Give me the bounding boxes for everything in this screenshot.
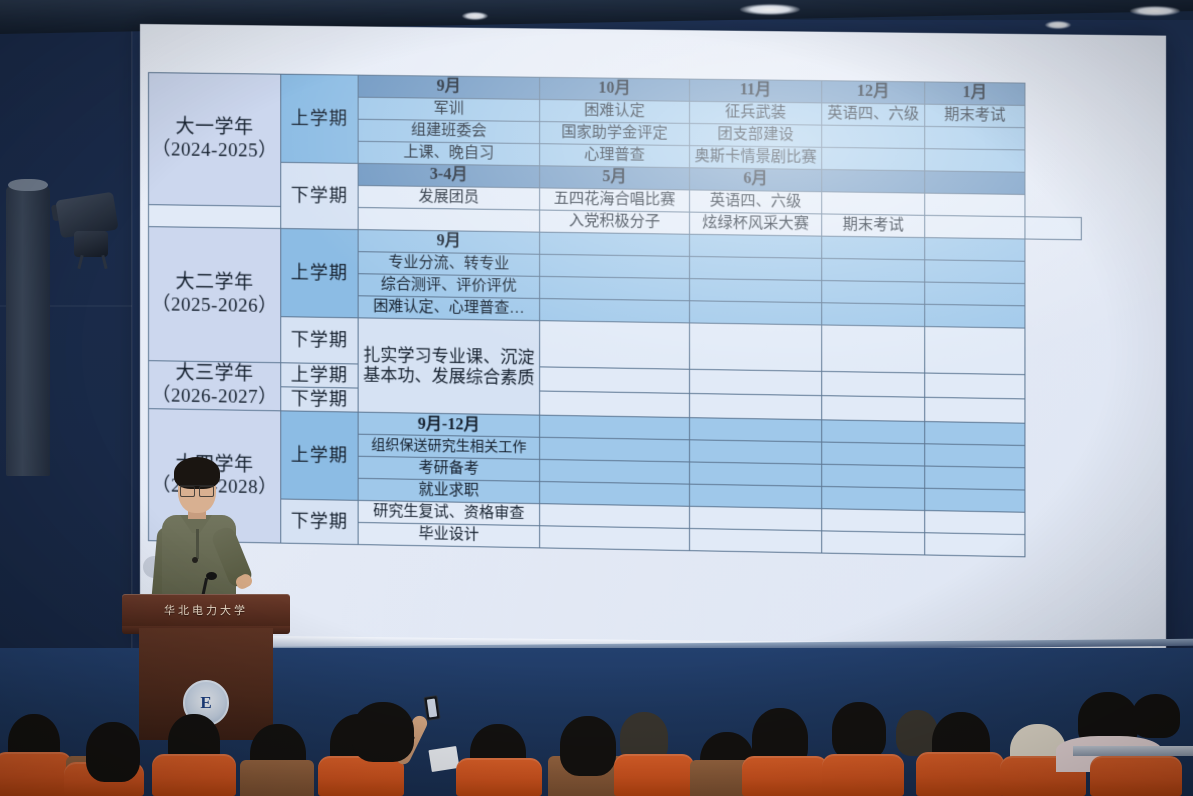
activity-cell: 上课、晚自习 [358,141,539,165]
month-header: 1月 [925,82,1025,105]
audience-head [1132,694,1180,738]
empty-cell [925,511,1025,535]
activity-cell: 炫绿杯风采大赛 [690,212,822,236]
auditorium-seat-back [240,760,314,796]
four-year-plan-table: 大一学年 （2024-2025） 上学期 9月 10月 11月 12月 1月 军… [148,72,1082,559]
empty-cell [925,533,1025,557]
audience-head [86,722,140,782]
empty-month-header [925,171,1025,195]
auditorium-seat [456,758,542,796]
audience-head [832,702,886,760]
empty-cell [822,443,925,467]
phone-screen [427,699,437,718]
empty-cell [690,279,822,303]
auditorium-photo: 大一学年 （2024-2025） 上学期 9月 10月 11月 12月 1月 军… [0,0,1193,796]
term-label-cell: 下学期 [281,499,358,545]
empty-cell [925,444,1025,468]
activity-cell: 五四花海合唱比赛 [540,188,690,212]
empty-cell [1025,217,1081,240]
empty-cell [540,299,690,323]
empty-cell [540,460,690,485]
camera-mount [74,231,108,257]
empty-cell [822,509,925,533]
activity-cell: 组织保送研究生相关工作 [358,435,539,460]
auditorium-seat [0,752,72,796]
ceiling-downlight [462,12,488,20]
empty-cell [822,420,925,444]
empty-cell [925,398,1025,424]
term-label-cell: 下学期 [281,317,358,364]
empty-cell [148,205,280,229]
empty-cell [925,489,1025,513]
empty-cell [540,321,690,370]
year-label-cell: 大三学年 （2026-2027） [148,361,280,412]
activity-cell: 征兵武装 [690,101,822,125]
empty-cell [822,258,925,282]
empty-cell [690,323,822,371]
empty-cell [540,254,690,278]
term-label-cell: 上学期 [281,363,358,389]
presenter-placket [196,529,199,559]
empty-cell [925,238,1025,262]
empty-cell [690,462,822,486]
activity-cell: 团支部建设 [690,123,822,147]
empty-cell [822,465,925,489]
activity-cell: 入党积极分子 [540,210,690,234]
empty-cell [822,531,925,555]
empty-cell [822,487,925,511]
empty-cell [690,256,822,280]
handout-paper [428,746,459,772]
empty-cell [925,422,1025,446]
podium-top: 华北电力大学 [122,594,290,628]
aisle-rail [1073,746,1193,756]
empty-cell [690,394,822,421]
empty-cell [690,440,822,464]
empty-cell [925,373,1025,399]
month-header: 10月 [540,77,690,101]
auditorium-seat [152,754,236,796]
wall-seam-vertical [131,20,133,650]
empty-cell [540,276,690,300]
auditorium-seat [614,754,694,796]
year-range: （2026-2027） [151,385,278,410]
empty-cell [540,504,690,529]
activity-cell: 心理普查 [540,144,690,168]
year-range: （2025-2026） [151,294,278,318]
activity-cell: 英语四、六级 [690,190,822,214]
empty-cell [540,367,690,394]
ceiling-downlight [1130,6,1180,16]
empty-cell [925,466,1025,490]
activity-cell: 期末考试 [925,104,1025,128]
year-range: （2024-2025） [151,139,278,163]
audience-head [352,702,414,762]
month-header: 11月 [690,79,822,103]
empty-cell [822,192,925,216]
activity-cell: 毕业设计 [358,523,539,548]
slide-content: 大一学年 （2024-2025） 上学期 9月 10月 11月 12月 1月 军… [148,72,1082,559]
activity-cell: 困难认定、心理普查… [358,296,539,321]
empty-cell [822,325,925,373]
podium-microphone-head [206,572,217,580]
activity-cell: 就业求职 [358,479,539,504]
glasses-icon [180,485,214,494]
multi-year-note-line1: 扎实学习专业课、沉淀 [361,345,537,368]
year-label: 大二学年 [151,271,278,295]
activity-cell: 研究生复试、资格审查 [358,501,539,526]
activity-cell: 专业分流、转专业 [358,252,539,277]
empty-cell [358,208,539,233]
activity-cell: 发展团员 [358,185,539,210]
audience-head [560,716,616,776]
podium-university-name: 华北电力大学 [122,602,290,618]
empty-cell [690,529,822,554]
month-header: 5月 [540,166,690,190]
empty-cell [540,232,690,256]
empty-cell [690,369,822,396]
month-header: 9月 [358,75,539,99]
month-header: 6月 [690,168,822,192]
empty-month-header [822,170,925,194]
auditorium-seat [916,752,1004,796]
year-label: 大三学年 [151,363,278,387]
activity-cell: 奥斯卡情景剧比赛 [690,146,822,170]
auditorium-seat [318,756,404,796]
term-label-cell: 下学期 [281,387,358,413]
empty-cell [540,391,690,418]
empty-cell [690,485,822,510]
line-array-speaker [6,186,50,476]
ceiling-downlight [740,4,800,15]
empty-cell [822,236,925,260]
audience [0,700,1193,796]
year-label-cell: 大二学年 （2025-2026） [148,227,280,363]
auditorium-seat [742,756,828,796]
empty-cell [925,327,1025,375]
term-label-cell: 上学期 [281,411,358,501]
year-label-cell: 大一学年 （2024-2025） [148,73,280,207]
empty-cell [925,149,1025,173]
lapel-microphone [192,557,198,563]
empty-cell [690,301,822,325]
empty-cell [690,234,822,258]
activity-cell: 困难认定 [540,99,690,123]
empty-cell [925,193,1025,217]
empty-cell [822,396,925,422]
term-label-cell: 下学期 [281,162,358,229]
auditorium-seat [822,754,904,796]
empty-cell [540,438,690,463]
empty-cell [925,304,1025,328]
empty-cell [822,281,925,305]
activity-cell: 组建班委会 [358,119,539,143]
empty-cell [690,507,822,532]
activity-cell: 军训 [358,97,539,121]
month-header: 3-4月 [358,163,539,188]
empty-cell [925,260,1025,284]
empty-cell [822,303,925,327]
term-label-cell: 上学期 [281,228,358,317]
term-label-cell: 上学期 [281,74,358,163]
empty-cell [540,526,690,551]
activity-cell: 考研备考 [358,457,539,482]
empty-cell [822,125,925,149]
auditorium-seat [1090,756,1182,796]
empty-cell [540,482,690,507]
month-header: 12月 [822,81,925,104]
projection-screen[interactable]: 大一学年 （2024-2025） 上学期 9月 10月 11月 12月 1月 军… [140,24,1166,664]
empty-cell [822,147,925,171]
activity-cell: 国家助学金评定 [540,122,690,146]
ceiling-downlight [1045,21,1071,29]
empty-cell [822,371,925,397]
activity-cell: 期末考试 [822,214,925,238]
month-header: 9月 [358,230,539,255]
empty-cell [690,418,822,442]
multi-year-note-cell: 扎实学习专业课、沉淀 基本功、发展综合素质 [358,318,539,416]
activity-cell: 英语四、六级 [822,103,925,127]
empty-cell [925,282,1025,306]
month-header: 9月-12月 [358,413,539,438]
speaker-top-cap [8,179,48,191]
empty-cell [925,215,1025,239]
empty-cell [925,126,1025,150]
multi-year-note-line2: 基本功、发展综合素质 [361,365,537,388]
activity-cell: 综合测评、评价评优 [358,274,539,299]
year-label: 大一学年 [151,116,278,140]
empty-cell [540,416,690,441]
